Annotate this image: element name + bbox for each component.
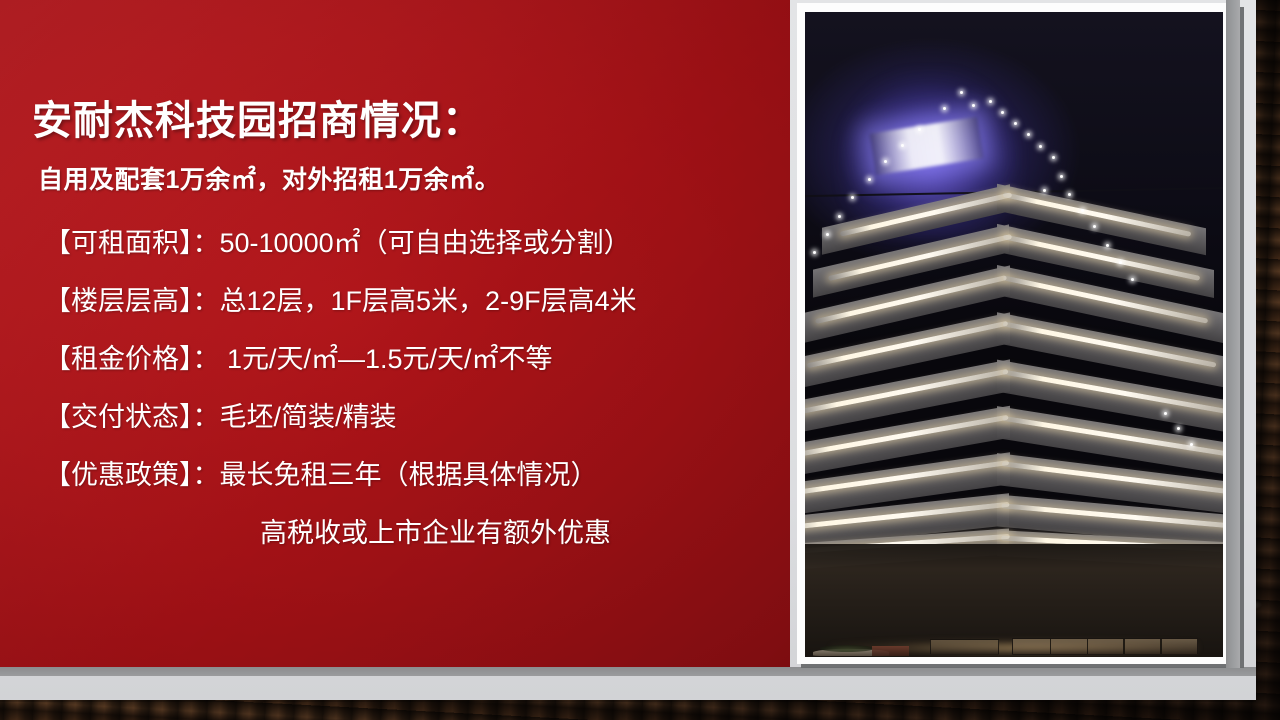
page-title: 安耐杰科技园招商情况： (32, 88, 483, 146)
list-item: 高税收或上市企业有额外优惠 (44, 504, 784, 562)
point-light (1119, 261, 1122, 264)
point-light (1060, 175, 1063, 178)
point-light (960, 91, 963, 94)
ground-floor-lobby (805, 544, 1223, 657)
list-item: 【优惠政策】：最长免租三年（根据具体情况） (44, 446, 784, 504)
point-light (989, 100, 992, 103)
point-light (972, 104, 975, 107)
point-light (826, 233, 829, 236)
list-item: 【可租面积】：50-10000㎡（可自由选择或分割） (44, 214, 784, 272)
photo-frame-right-shadow (1226, 0, 1240, 668)
point-light (1131, 278, 1134, 281)
plate-bottom-shadow (0, 667, 1256, 676)
glass-canopy-structure (1012, 638, 1198, 655)
list-item: 【租金价格】： 1元/天/㎡—1.5元/天/㎡不等 (44, 330, 784, 388)
lobby-entry-door (930, 639, 999, 655)
photo-frame-inner (805, 12, 1223, 657)
photo-frame (797, 3, 1240, 664)
construction-equipment (872, 646, 910, 656)
list-item: 【交付状态】：毛坯/简装/精装 (44, 388, 784, 446)
shrub (820, 645, 874, 652)
point-light (901, 144, 904, 147)
building-night-photo (805, 12, 1223, 657)
point-light (1014, 122, 1017, 125)
list-item: 【楼层层高】：总12层，1F层高5米，2-9F层高4米 (44, 272, 784, 330)
point-light (1039, 145, 1042, 148)
detail-list: 【可租面积】：50-10000㎡（可自由选择或分割） 【楼层层高】：总12层，1… (44, 214, 784, 562)
slide-text-container: 安耐杰科技园招商情况： 自用及配套1万余㎡，对外招租1万余㎡。 【可租面积】：5… (0, 0, 790, 667)
point-light (1190, 443, 1193, 446)
page-subtitle: 自用及配套1万余㎡，对外招租1万余㎡。 (38, 160, 500, 196)
point-light (918, 128, 921, 131)
point-light (1027, 133, 1030, 136)
